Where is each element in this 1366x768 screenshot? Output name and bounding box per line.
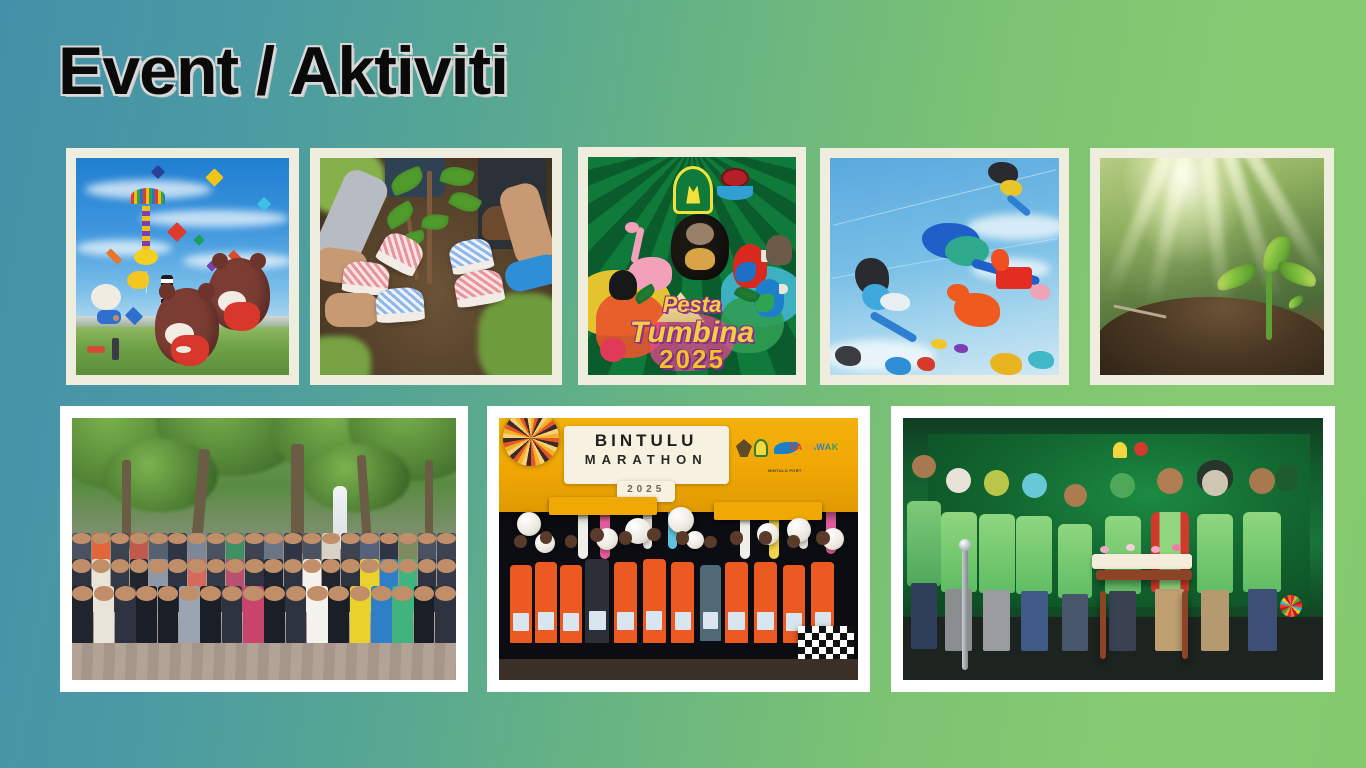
ceremonial-cake <box>1092 554 1192 569</box>
photo-animal-kites <box>830 158 1059 375</box>
photo-kite-festival <box>76 158 289 375</box>
runner <box>725 562 748 643</box>
bda-shield-logo <box>673 166 713 214</box>
gallery-item-bintulu-marathon[interactable]: BINTULU MARATHON 2025 BINTULU PORT SARAW… <box>487 406 870 692</box>
photo-park-group <box>72 418 456 680</box>
photo-cake-ceremony <box>903 418 1323 680</box>
page-title: Event / Aktiviti <box>58 36 508 107</box>
crowd-row <box>72 586 456 644</box>
work-glove <box>375 287 425 324</box>
marathon-subtitle: MARATHON <box>564 453 729 466</box>
runner <box>535 562 557 643</box>
gallery-item-kite-festival[interactable] <box>66 148 299 385</box>
sarawak-logo: SARAWAK <box>789 442 847 454</box>
sun-bear <box>671 214 729 280</box>
runner <box>585 559 609 643</box>
stanchion-post <box>962 549 968 670</box>
official <box>1243 468 1281 651</box>
runner <box>754 562 777 643</box>
balloon <box>668 507 694 533</box>
marathon-title-plate: BINTULU MARATHON <box>564 426 729 484</box>
bintulu-port-label: BINTULU PORT <box>768 468 801 473</box>
bda-shield-logo <box>754 439 768 457</box>
chipmunk-kite <box>155 288 219 364</box>
gallery-item-animal-kites[interactable] <box>820 148 1069 385</box>
photo-seedling <box>1100 158 1324 375</box>
marathon-title: BINTULU <box>564 432 729 449</box>
official <box>1016 473 1052 651</box>
official <box>941 468 977 651</box>
slide-canvas: Event / Aktiviti <box>0 0 1366 768</box>
poster-event-name: Pesta <box>588 292 796 318</box>
official <box>1197 470 1233 651</box>
photo-pesta-tumbina-poster: Pesta Tumbina 2025 <box>588 157 796 375</box>
cake-table <box>1096 570 1192 580</box>
gallery-item-pesta-tumbina[interactable]: Pesta Tumbina 2025 <box>578 147 806 385</box>
runner <box>510 565 532 644</box>
runner <box>643 559 666 643</box>
gallery-item-tree-planting[interactable] <box>310 148 562 385</box>
official <box>907 455 941 649</box>
photo-tree-planting <box>320 158 552 375</box>
runner <box>700 565 721 641</box>
official <box>1058 484 1092 652</box>
globe-wave-logo <box>717 168 753 208</box>
gallery-item-seedling[interactable] <box>1090 148 1334 385</box>
gallery-item-cake-ceremony[interactable] <box>891 406 1335 692</box>
runner <box>560 565 582 644</box>
poster-year: 2025 <box>588 344 796 375</box>
official <box>979 470 1015 651</box>
runner <box>614 562 637 643</box>
runner <box>671 562 694 643</box>
photo-bintulu-marathon: BINTULU MARATHON 2025 BINTULU PORT SARAW… <box>499 418 858 680</box>
gallery-item-park-group[interactable] <box>60 406 468 692</box>
